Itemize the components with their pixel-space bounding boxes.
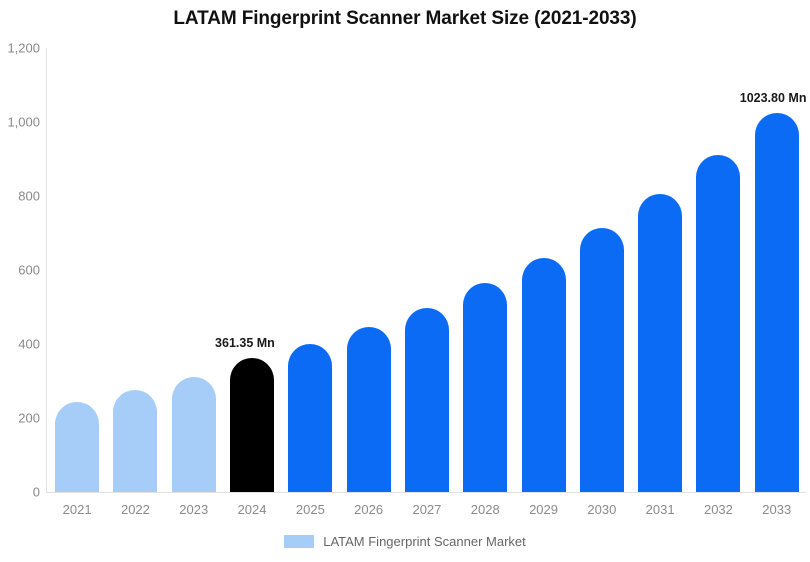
x-axis-line [46, 492, 806, 493]
x-tick-label: 2033 [755, 502, 799, 517]
bar-chart: LATAM Fingerprint Scanner Market Size (2… [0, 0, 810, 562]
y-tick-label: 0 [0, 485, 40, 500]
y-axis: 02004006008001,0001,200 [0, 0, 40, 562]
x-tick-label: 2031 [638, 502, 682, 517]
plot-area: 361.35 Mn1023.80 Mn [46, 48, 804, 492]
chart-title: LATAM Fingerprint Scanner Market Size (2… [0, 8, 810, 30]
bar[interactable] [696, 155, 740, 492]
y-tick-label: 200 [0, 411, 40, 426]
x-tick-label: 2029 [522, 502, 566, 517]
legend-item-label: LATAM Fingerprint Scanner Market [323, 534, 526, 549]
bar[interactable] [580, 228, 624, 492]
bar[interactable] [230, 358, 274, 492]
y-tick-label: 1,000 [0, 115, 40, 130]
bar[interactable] [172, 377, 216, 492]
x-tick-label: 2023 [172, 502, 216, 517]
bar[interactable] [463, 283, 507, 492]
chart-legend: LATAM Fingerprint Scanner Market [0, 534, 810, 549]
bar[interactable] [755, 113, 799, 492]
bar-value-label: 361.35 Mn [215, 336, 275, 350]
x-tick-label: 2024 [230, 502, 274, 517]
bar[interactable] [405, 308, 449, 492]
legend-swatch-icon [284, 535, 314, 548]
x-tick-label: 2027 [405, 502, 449, 517]
x-tick-label: 2032 [696, 502, 740, 517]
y-tick-label: 600 [0, 263, 40, 278]
bar[interactable] [347, 327, 391, 492]
bar[interactable] [55, 402, 99, 492]
bar[interactable] [522, 258, 566, 492]
x-tick-label: 2026 [347, 502, 391, 517]
x-tick-label: 2025 [288, 502, 332, 517]
y-tick-label: 800 [0, 189, 40, 204]
x-tick-label: 2030 [580, 502, 624, 517]
y-tick-label: 400 [0, 337, 40, 352]
bar-value-label: 1023.80 Mn [740, 91, 807, 105]
y-tick-label: 1,200 [0, 41, 40, 56]
bar[interactable] [638, 194, 682, 492]
bar[interactable] [113, 390, 157, 492]
x-tick-label: 2021 [55, 502, 99, 517]
x-tick-label: 2022 [113, 502, 157, 517]
x-tick-label: 2028 [463, 502, 507, 517]
legend-item[interactable]: LATAM Fingerprint Scanner Market [284, 534, 526, 549]
bar[interactable] [288, 344, 332, 492]
